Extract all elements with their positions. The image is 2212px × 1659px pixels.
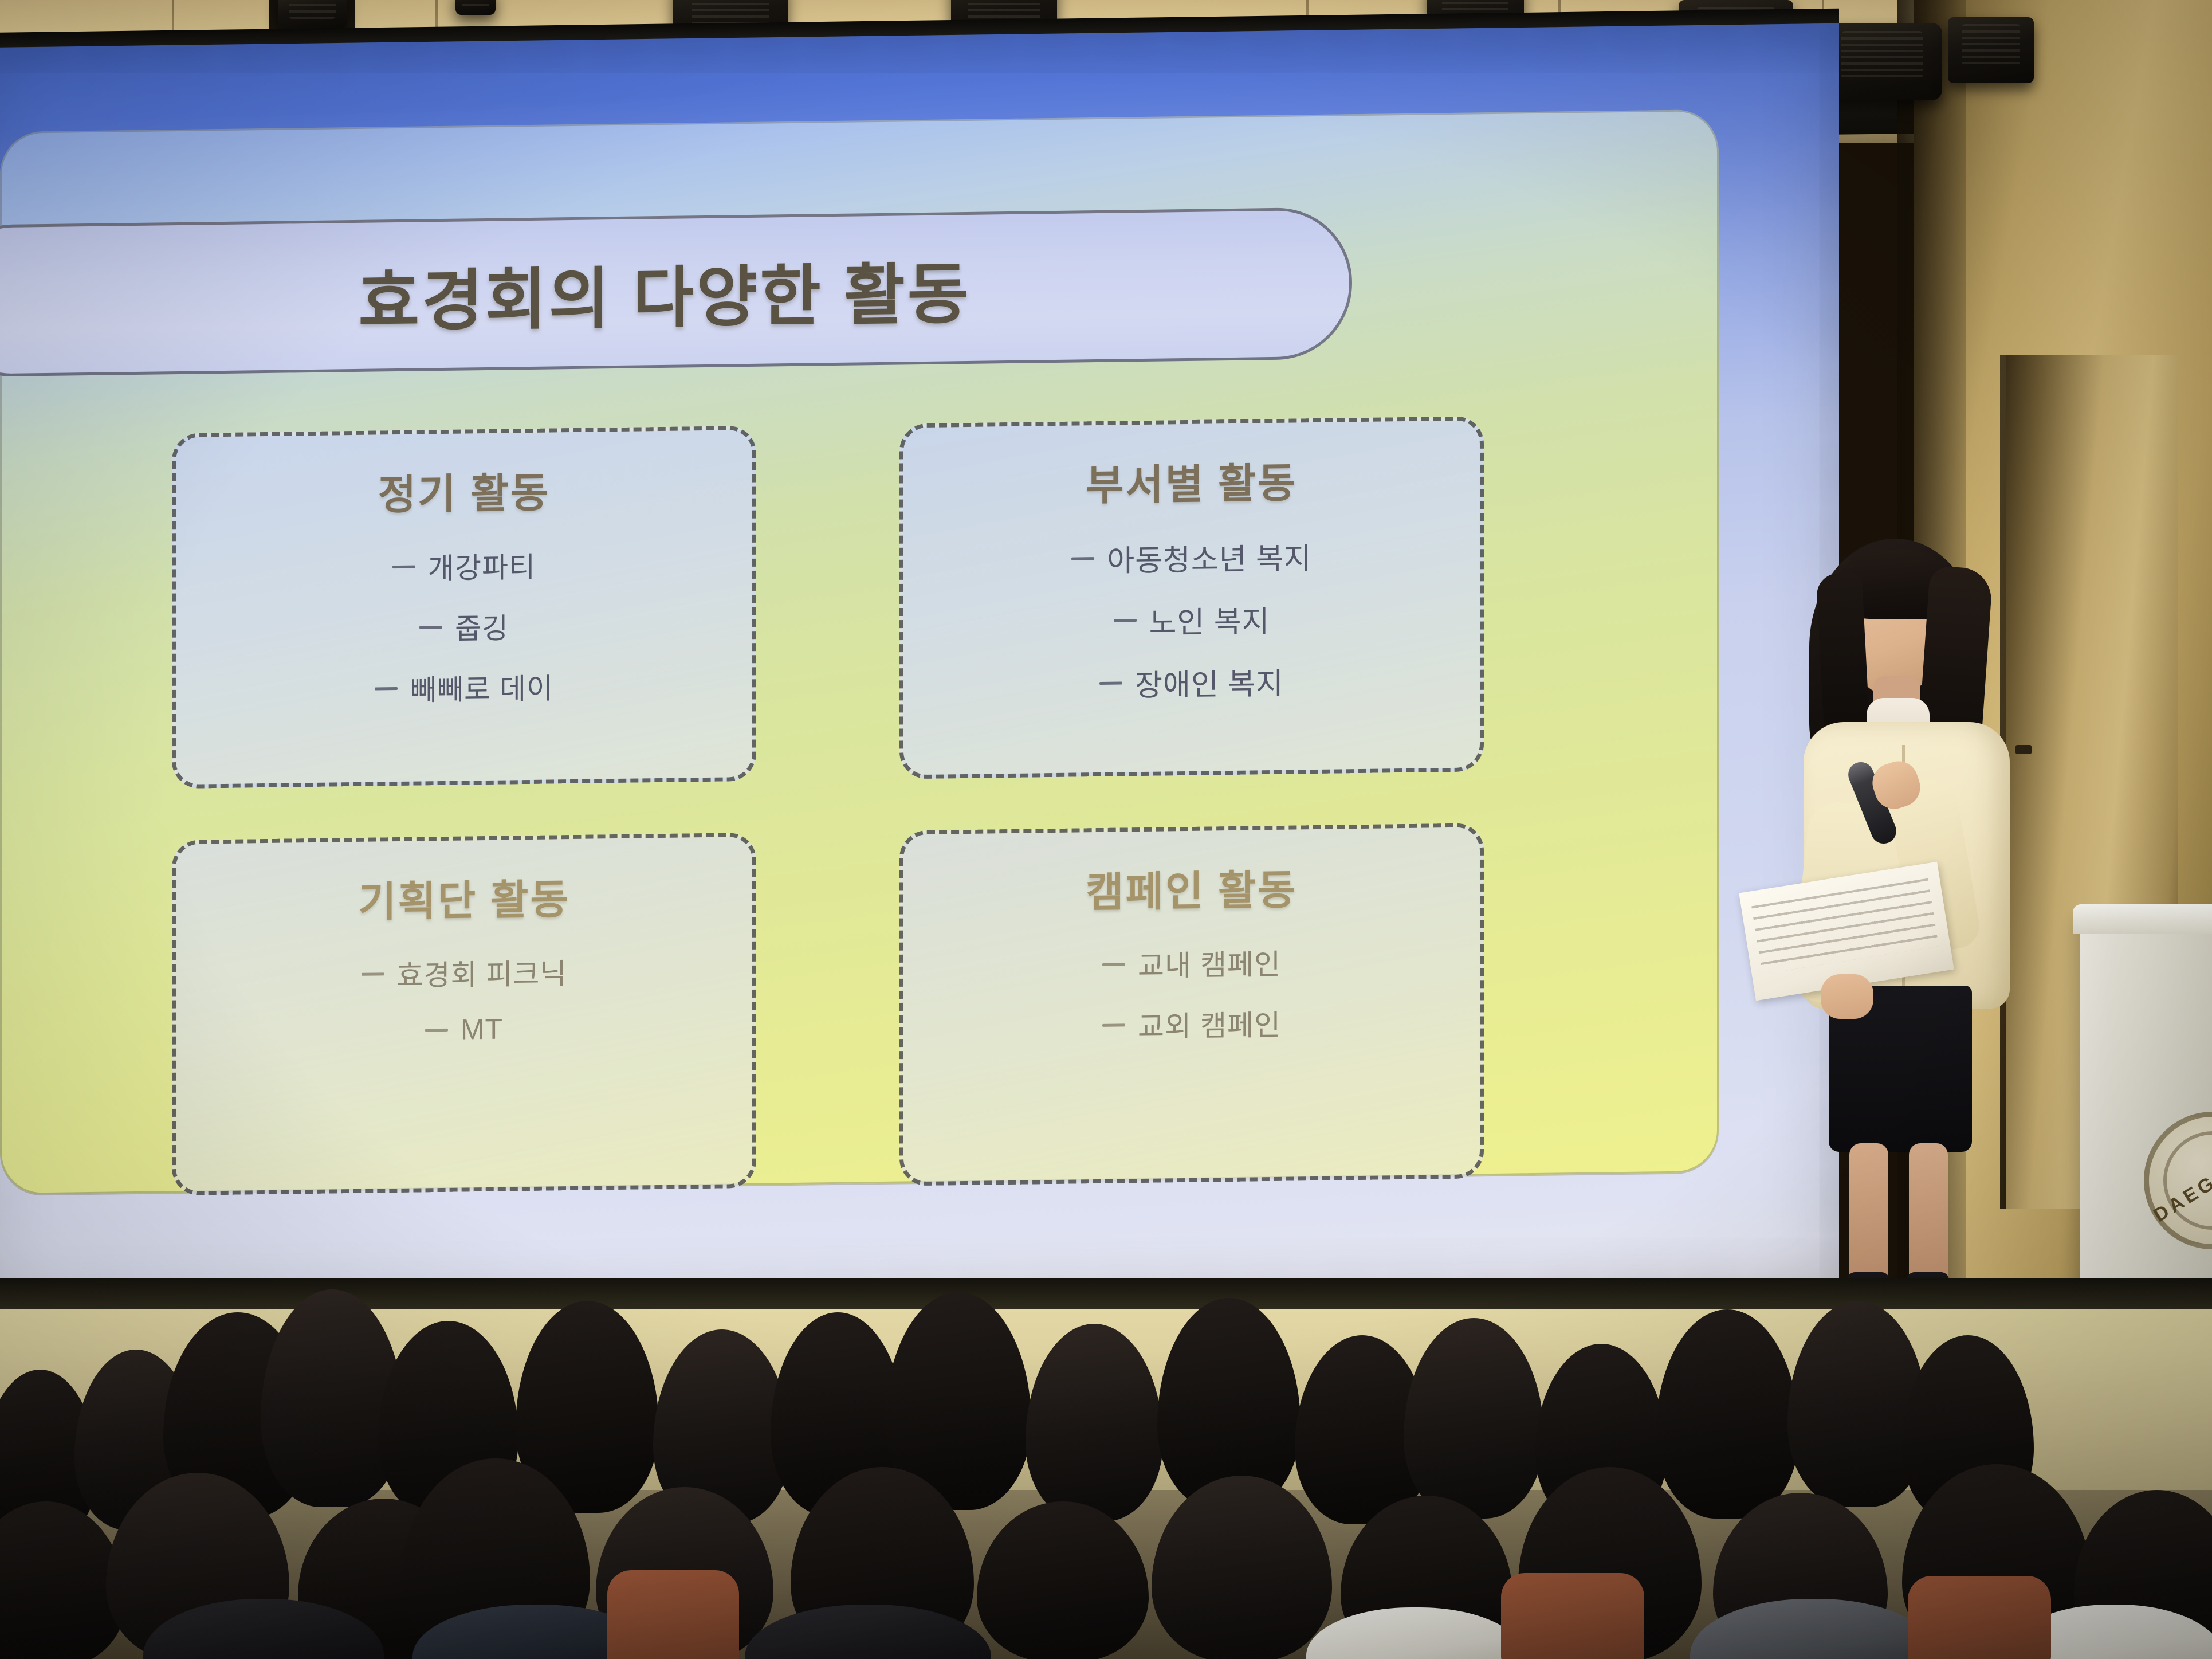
podium-top-surface [2073,904,2212,934]
bullet-dash-icon [419,625,442,629]
bullet-dash-icon [362,972,384,976]
bullet-dash-icon [1102,963,1125,966]
activity-box-planning: 기획단 활동 효경회 피크닉 MT [172,833,756,1195]
box-item-list: 교내 캠페인 교외 캠페인 [938,939,1445,1048]
box-heading: 캠페인 활동 [1086,856,1297,919]
list-item-label: 교내 캠페인 [1138,942,1281,985]
presentation-slide: 효경회의 다양한 활동 정기 활동 개강파티 줍깅 빼빼로 데이 부서별 활동 … [0,68,1782,1226]
bullet-dash-icon [375,687,398,691]
bullet-dash-icon [1099,681,1122,685]
list-item: MT [425,1013,503,1047]
list-item-label: MT [461,1013,503,1046]
list-item-label: 빼빼로 데이 [410,665,553,708]
stage-light-icon [1822,23,1942,100]
list-item-label: 장애인 복지 [1135,660,1284,704]
presenter-leg-left [1849,1143,1888,1287]
box-heading: 부서별 활동 [1086,449,1297,512]
list-item: 효경회 피크닉 [362,951,567,995]
page-title: 효경회의 다양한 활동 [319,240,971,344]
list-item: 교내 캠페인 [1102,942,1281,985]
presenter [1787,533,2034,1398]
activity-box-campaign: 캠페인 활동 교내 캠페인 교외 캠페인 [899,823,1484,1186]
list-item: 교외 캠페인 [1102,1002,1281,1046]
presenter-leg-right [1909,1143,1948,1287]
box-item-list: 효경회 피크닉 MT [210,949,718,1050]
list-item-label: 아동청소년 복지 [1107,534,1311,580]
stage-light-icon [455,0,496,15]
activity-box-department: 부서별 활동 아동청소년 복지 노인 복지 장애인 복지 [899,416,1484,779]
bullet-dash-icon [425,1028,448,1032]
list-item-label: 개강파티 [428,544,536,587]
stage-light-icon [1948,17,2034,83]
box-heading: 기획단 활동 [358,865,569,928]
list-item-label: 효경회 피크닉 [397,951,567,994]
bullet-dash-icon [1114,619,1137,622]
list-item: 개강파티 [392,544,536,587]
list-item-label: 교외 캠페인 [1138,1002,1281,1045]
list-item: 노인 복지 [1114,597,1270,642]
screenshot-root: 효경회의 다양한 활동 정기 활동 개강파티 줍깅 빼빼로 데이 부서별 활동 … [0,0,2212,1659]
box-item-list: 아동청소년 복지 노인 복지 장애인 복지 [938,532,1445,707]
bullet-dash-icon [1102,1023,1125,1027]
list-item: 줍깅 [419,605,509,648]
bullet-dash-icon [392,565,415,568]
script-text-lines [1751,878,1939,974]
stage-light-icon [278,0,347,29]
list-item-label: 줍깅 [455,605,509,647]
list-item-label: 노인 복지 [1149,597,1270,642]
list-item: 장애인 복지 [1099,660,1284,705]
bullet-dash-icon [1071,557,1094,560]
list-item: 빼빼로 데이 [375,665,553,709]
activity-grid: 정기 활동 개강파티 줍깅 빼빼로 데이 부서별 활동 아동청소년 복지 노인 … [172,416,1484,1195]
box-heading: 정기 활동 [378,459,550,521]
activity-box-regular: 정기 활동 개강파티 줍깅 빼빼로 데이 [172,426,756,789]
list-item: 아동청소년 복지 [1071,534,1311,580]
slide-title-banner: 효경회의 다양한 활동 [0,207,1352,377]
box-item-list: 개강파티 줍깅 빼빼로 데이 [210,542,718,712]
presenter-hand-left [1821,974,1873,1019]
